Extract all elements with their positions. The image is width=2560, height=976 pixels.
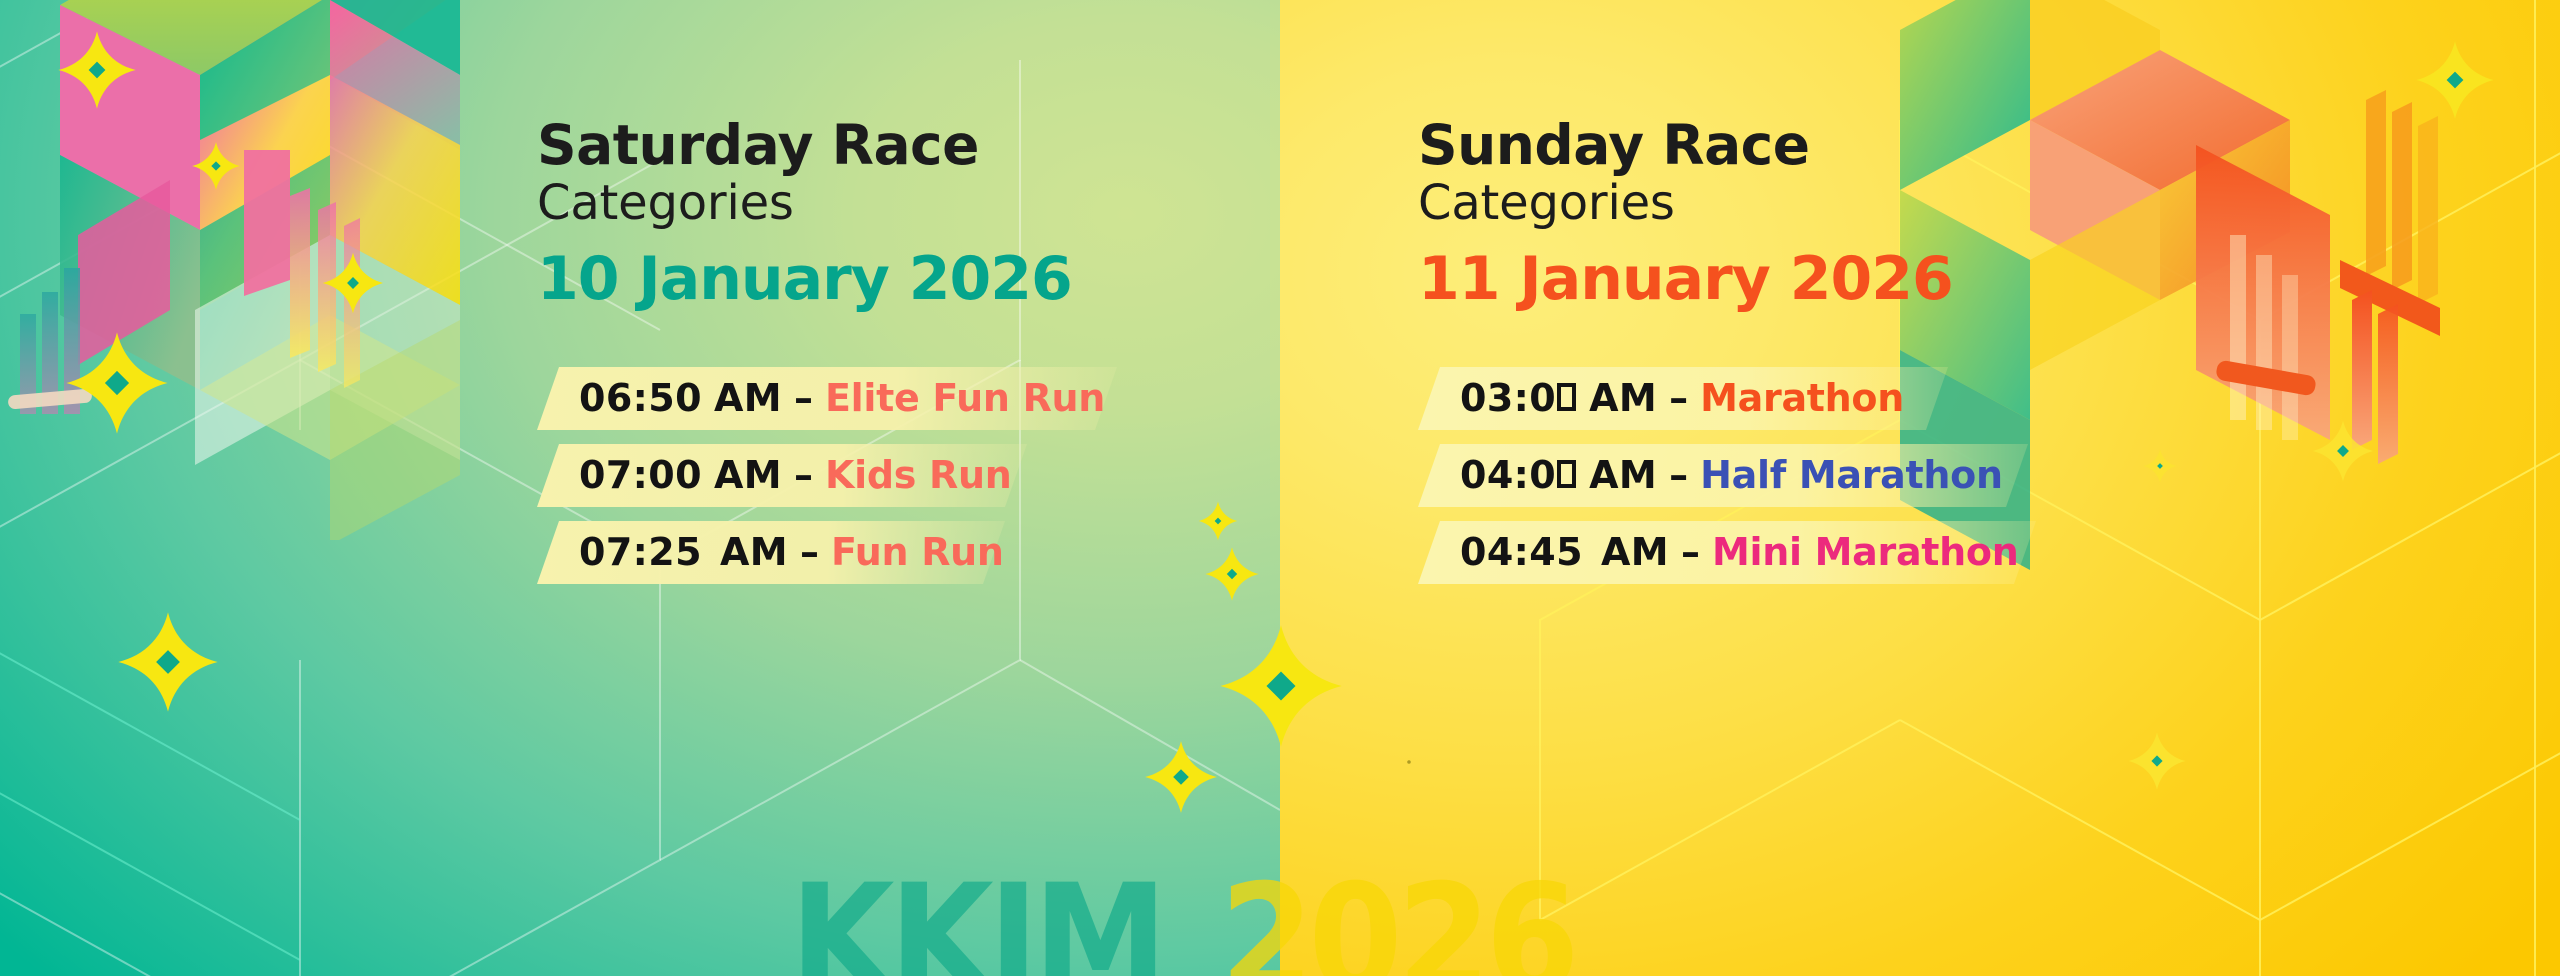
saturday-column: Saturday Race Categories 10 January 2026	[537, 118, 1157, 584]
sunday-title: Sunday Race	[1418, 118, 2078, 173]
schedule-item[interactable]: 04:45 AM – Mini Marathon	[1418, 521, 2036, 584]
schedule-dash: –	[1669, 530, 1712, 574]
schedule-time: 07:00	[579, 453, 702, 497]
schedule-meridiem: AM	[702, 376, 782, 420]
schedule-dash: –	[782, 376, 825, 420]
schedule-meridiem: AM	[1577, 453, 1657, 497]
schedule-time: 07:25	[579, 530, 702, 574]
schedule-time: 04:0	[1460, 453, 1556, 497]
schedule-race-name: Mini Marathon	[1712, 530, 2018, 574]
saturday-subtitle: Categories	[537, 177, 1157, 231]
schedule-meridiem: AM	[1577, 376, 1657, 420]
schedule-time: 06:50	[579, 376, 702, 420]
schedule-item[interactable]: 07:00 AM – Kids Run	[537, 444, 1027, 507]
sunday-column: Sunday Race Categories 11 January 2026	[1418, 118, 2078, 584]
schedule-item-content: 07:25 AM – Fun Run	[579, 530, 1004, 574]
schedule-item-content: 04:0 AM – Half Marathon	[1460, 453, 2003, 497]
schedule-race-name: Kids Run	[825, 453, 1012, 497]
schedule-dash: –	[1657, 453, 1700, 497]
schedule-item[interactable]: 04:0 AM – Half Marathon	[1418, 444, 2028, 507]
sunday-subtitle: Categories	[1418, 177, 2078, 231]
missing-glyph-icon	[1557, 460, 1576, 488]
schedule-race-name: Fun Run	[831, 530, 1004, 574]
schedule-item-content: 06:50 AM – Elite Fun Run	[579, 376, 1105, 420]
schedule-item-content: 07:00 AM – Kids Run	[579, 453, 1012, 497]
schedule-item[interactable]: 06:50 AM – Elite Fun Run	[537, 367, 1117, 430]
schedule-dash: –	[782, 453, 825, 497]
saturday-date: 10 January 2026	[537, 249, 1157, 309]
race-schedule-banner: KKIM 2026 Saturday Race Categories 10 Ja…	[0, 0, 2560, 976]
schedule-meridiem: AM	[702, 530, 788, 574]
schedule-time: 04:45	[1460, 530, 1583, 574]
saturday-title: Saturday Race	[537, 118, 1157, 173]
schedule-race-name: Half Marathon	[1700, 453, 2003, 497]
schedule-meridiem: AM	[1583, 530, 1669, 574]
saturday-schedule-list: 06:50 AM – Elite Fun Run	[537, 367, 1157, 584]
schedule-dash: –	[1657, 376, 1700, 420]
missing-glyph-icon	[1557, 383, 1576, 411]
schedule-item-content: 04:45 AM – Mini Marathon	[1460, 530, 2018, 574]
schedule-meridiem: AM	[702, 453, 782, 497]
schedule-dash: –	[788, 530, 831, 574]
schedule-time: 03:0	[1460, 376, 1556, 420]
schedule-race-name: Marathon	[1700, 376, 1904, 420]
schedule-item[interactable]: 03:0 AM – Marathon	[1418, 367, 1948, 430]
sunday-date: 11 January 2026	[1418, 249, 2078, 309]
schedule-item-content: 03:0 AM – Marathon	[1460, 376, 1904, 420]
sunday-schedule-list: 03:0 AM – Marathon	[1418, 367, 2078, 584]
schedule-race-name: Elite Fun Run	[825, 376, 1105, 420]
schedule-item[interactable]: 07:25 AM – Fun Run	[537, 521, 1005, 584]
